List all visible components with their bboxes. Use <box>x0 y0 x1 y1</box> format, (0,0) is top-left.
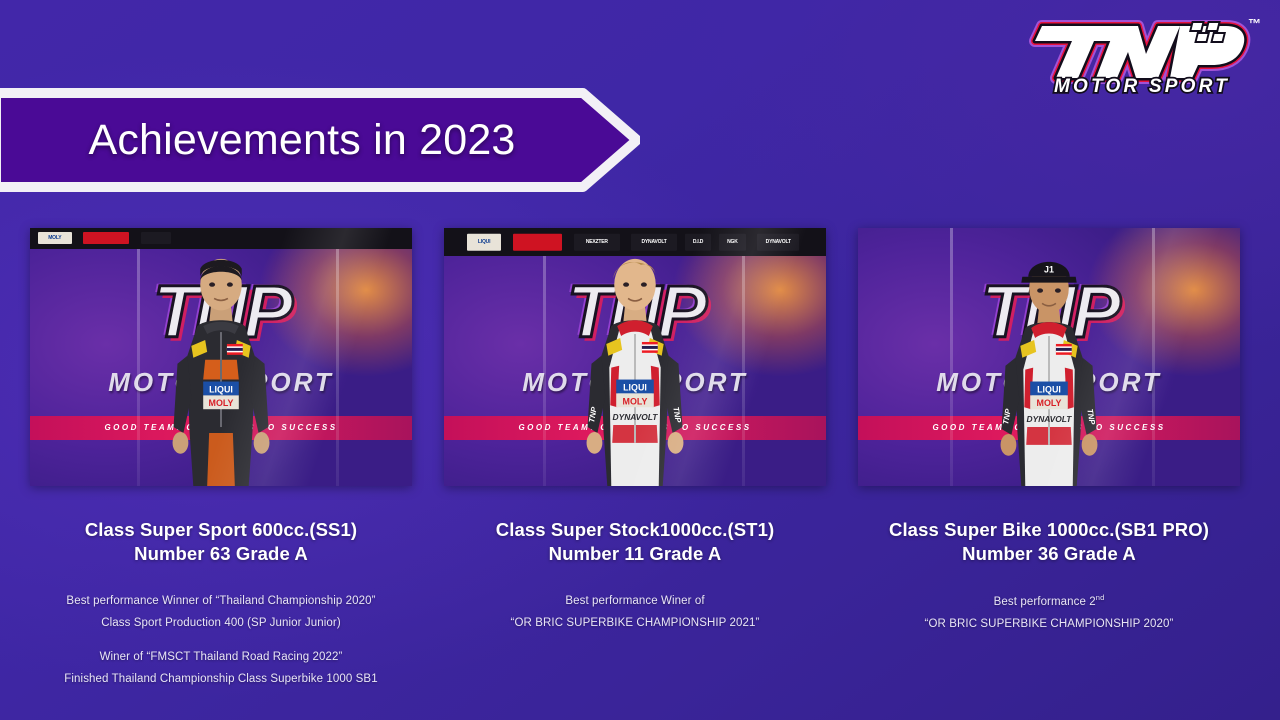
card-title-line2: Number 36 Grade A <box>889 542 1209 566</box>
card-body: Best performance Winner of “Thailand Cha… <box>64 591 377 690</box>
slide-root: ™ MOTOR SPORT Achievements in 2023 TNP M… <box>0 0 1280 720</box>
card-body-line: Best performance Winner of “Thailand Cha… <box>64 591 377 613</box>
backdrop-seam <box>950 228 953 486</box>
svg-text:MOLY: MOLY <box>209 398 234 408</box>
svg-text:MOTOR SPORT: MOTOR SPORT <box>1054 76 1230 97</box>
card-body-line: Class Sport Production 400 (SP Junior Ju… <box>64 613 377 635</box>
body-spacer <box>64 635 377 647</box>
card-body: Best performance 2nd “OR BRIC SUPERBIKE … <box>925 591 1174 636</box>
sponsor-strip: MOLY <box>30 228 412 249</box>
achievement-card: TNP MOTOR SPORT GOOD TEAMWORK LEADS TO S… <box>0 228 436 720</box>
svg-text:DYNAVOLT: DYNAVOLT <box>613 412 659 422</box>
svg-text:LIQUI: LIQUI <box>623 382 647 392</box>
thailand-flag-patch <box>1056 344 1072 355</box>
backdrop-seam <box>1152 228 1155 486</box>
card-title: Class Super Bike 1000cc.(SB1 PRO) Number… <box>889 518 1209 565</box>
card-body-line: “OR BRIC SUPERBIKE CHAMPIONSHIP 2020” <box>925 614 1174 636</box>
card-title: Class Super Sport 600cc.(SS1) Number 63 … <box>85 518 357 565</box>
sponsor-logo <box>83 232 129 244</box>
liqui-moly-badge: LIQUI MOLY <box>203 381 239 409</box>
card-title-line1: Class Super Stock1000cc.(ST1) <box>496 518 774 542</box>
svg-text:LIQUI: LIQUI <box>1037 384 1061 394</box>
card-title-line1: Class Super Sport 600cc.(SS1) <box>85 518 357 542</box>
svg-text:MOLY: MOLY <box>1037 398 1062 408</box>
sponsor-logo-liqui-moly: LIQUI <box>467 234 501 250</box>
svg-text:J1: J1 <box>1044 264 1054 274</box>
rider-photo: TNP MOTOR SPORT GOOD TEAMWORK LEADS TO S… <box>858 228 1240 486</box>
svg-text:MOLY: MOLY <box>623 396 648 406</box>
rider-figure: LIQUI MOLY <box>133 249 309 486</box>
thailand-flag-patch <box>642 342 658 353</box>
svg-text:LIQUI: LIQUI <box>209 384 233 394</box>
section-title-banner: Achievements in 2023 <box>0 88 640 192</box>
card-title-line2: Number 11 Grade A <box>496 542 774 566</box>
ordinal-suffix: nd <box>1096 593 1105 602</box>
svg-text:™: ™ <box>1248 16 1261 31</box>
rider-photo: TNP MOTOR SPORT GOOD TEAMWORK LEADS TO S… <box>30 228 412 486</box>
card-body-line: Best performance Winer of <box>511 591 760 613</box>
sponsor-logo-ngk: NGK <box>719 234 746 250</box>
card-title-line1: Class Super Bike 1000cc.(SB1 PRO) <box>889 518 1209 542</box>
card-body-line: Best performance 2nd <box>925 591 1174 614</box>
liqui-moly-badge: LIQUI MOLY <box>1030 381 1068 409</box>
card-title-line2: Number 63 Grade A <box>85 542 357 566</box>
backdrop-seam <box>543 228 546 486</box>
rider-cap: J1 <box>1021 261 1076 282</box>
achievement-card: TNP MOTOR SPORT GOOD TEAMWORK LEADS TO S… <box>436 228 834 720</box>
tnp-motorsport-logo: ™ MOTOR SPORT <box>1014 6 1262 98</box>
svg-text:DYNAVOLT: DYNAVOLT <box>1027 414 1073 424</box>
card-body-line: Finished Thailand Championship Class Sup… <box>64 669 377 691</box>
card-body: Best performance Winer of “OR BRIC SUPER… <box>511 591 760 635</box>
rider-figure: LIQUI MOLY DYNAVOLT TNP TNP <box>961 249 1137 486</box>
rider-photo: TNP MOTOR SPORT GOOD TEAMWORK LEADS TO S… <box>444 228 826 486</box>
thailand-flag-patch <box>227 344 243 355</box>
sponsor-logo <box>141 232 172 244</box>
card-body-line: “OR BRIC SUPERBIKE CHAMPIONSHIP 2021” <box>511 613 760 635</box>
liqui-moly-badge: LIQUI MOLY <box>616 379 654 407</box>
backdrop-seam <box>336 228 339 486</box>
achievement-cards: TNP MOTOR SPORT GOOD TEAMWORK LEADS TO S… <box>0 228 1280 720</box>
page-title: Achievements in 2023 <box>0 88 578 192</box>
achievement-card: TNP MOTOR SPORT GOOD TEAMWORK LEADS TO S… <box>834 228 1280 720</box>
sponsor-logo-liqui-moly: MOLY <box>38 232 72 244</box>
backdrop-seam <box>742 228 745 486</box>
rider-figure: LIQUI MOLY DYNAVOLT TNP TNP <box>547 249 723 486</box>
sponsor-logo-dynavolt: DYNAVOLT <box>757 234 799 250</box>
card-title: Class Super Stock1000cc.(ST1) Number 11 … <box>496 518 774 565</box>
card-body-line: Winer of “FMSCT Thailand Road Racing 202… <box>64 647 377 669</box>
